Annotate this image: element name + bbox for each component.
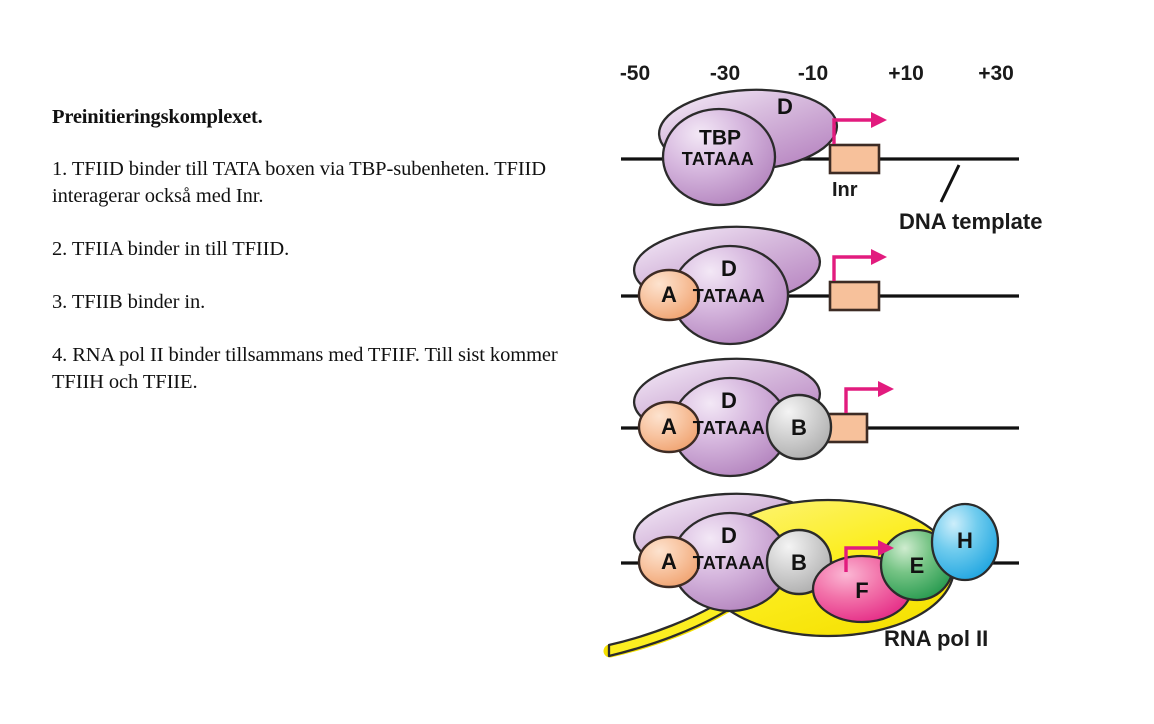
scale-tick--30: -30 [710, 62, 740, 85]
page-title: Preinitieringskomplexet. [52, 104, 562, 130]
tfiid-label-panel-1: D [777, 94, 793, 119]
inr-box-panel-1 [830, 145, 879, 173]
step-1-text: 1. TFIID binder till TATA boxen via TBP-… [52, 156, 562, 210]
tfiif-label-panel-4: F [855, 578, 868, 603]
tfiid-label-panel-2: D [721, 256, 737, 281]
tfiie-label-panel-4: E [910, 553, 925, 578]
tfiia-label-panel-2: A [661, 282, 677, 307]
scale-tick-+30: +30 [978, 62, 1014, 85]
panel-1-tfiid-binding: D TBP TATAAA Inr DNA template [621, 85, 1042, 234]
preinitiation-complex-diagram: -50 -30 -10 +10 +30 D TBP TATAAA [596, 44, 1136, 684]
transcription-start-arrow-panel-2 [834, 249, 887, 281]
tfiia-label-panel-4: A [661, 549, 677, 574]
panel-3-tfiib-binding: D TATAAA A B [621, 354, 1019, 476]
rna-pol-ii-label: RNA pol II [884, 626, 988, 651]
tata-box-label-panel-3: TATAAA [693, 418, 765, 438]
explanation-text-block: Preinitieringskomplexet. 1. TFIID binder… [52, 104, 562, 396]
scale-tick--10: -10 [798, 62, 828, 85]
scale-tick--50: -50 [620, 62, 650, 85]
tfiid-label-panel-3: D [721, 388, 737, 413]
scale-tick-+10: +10 [888, 62, 924, 85]
tfiib-label-panel-3: B [791, 415, 807, 440]
transcription-start-arrow-panel-1 [834, 112, 887, 144]
tfiih-label-panel-4: H [957, 528, 973, 553]
dna-template-label: DNA template [899, 209, 1042, 234]
panel-4-holoenzyme: D TATAAA A B F E H RNA pol II [609, 489, 1019, 656]
step-4-text: 4. RNA pol II binder tillsammans med TFI… [52, 342, 562, 396]
tata-box-label-panel-2: TATAAA [693, 286, 765, 306]
tfiid-label-panel-4: D [721, 523, 737, 548]
tfiia-label-panel-3: A [661, 414, 677, 439]
slide-canvas: Preinitieringskomplexet. 1. TFIID binder… [0, 0, 1154, 724]
tata-box-label-panel-4: TATAAA [693, 553, 765, 573]
inr-label-panel-1: Inr [832, 179, 858, 201]
position-scale: -50 -30 -10 +10 +30 [620, 62, 1014, 85]
step-3-text: 3. TFIIB binder in. [52, 289, 562, 316]
transcription-start-arrow-panel-3 [846, 381, 894, 413]
tata-box-label-panel-1: TATAAA [682, 149, 754, 169]
dna-template-leader-line [941, 165, 959, 202]
inr-box-panel-2 [830, 282, 879, 310]
tfiib-label-panel-4: B [791, 550, 807, 575]
step-2-text: 2. TFIIA binder in till TFIID. [52, 236, 562, 263]
tbp-label-panel-1: TBP [699, 127, 741, 150]
panel-2-tfiia-binding: D TATAAA A [621, 222, 1019, 344]
